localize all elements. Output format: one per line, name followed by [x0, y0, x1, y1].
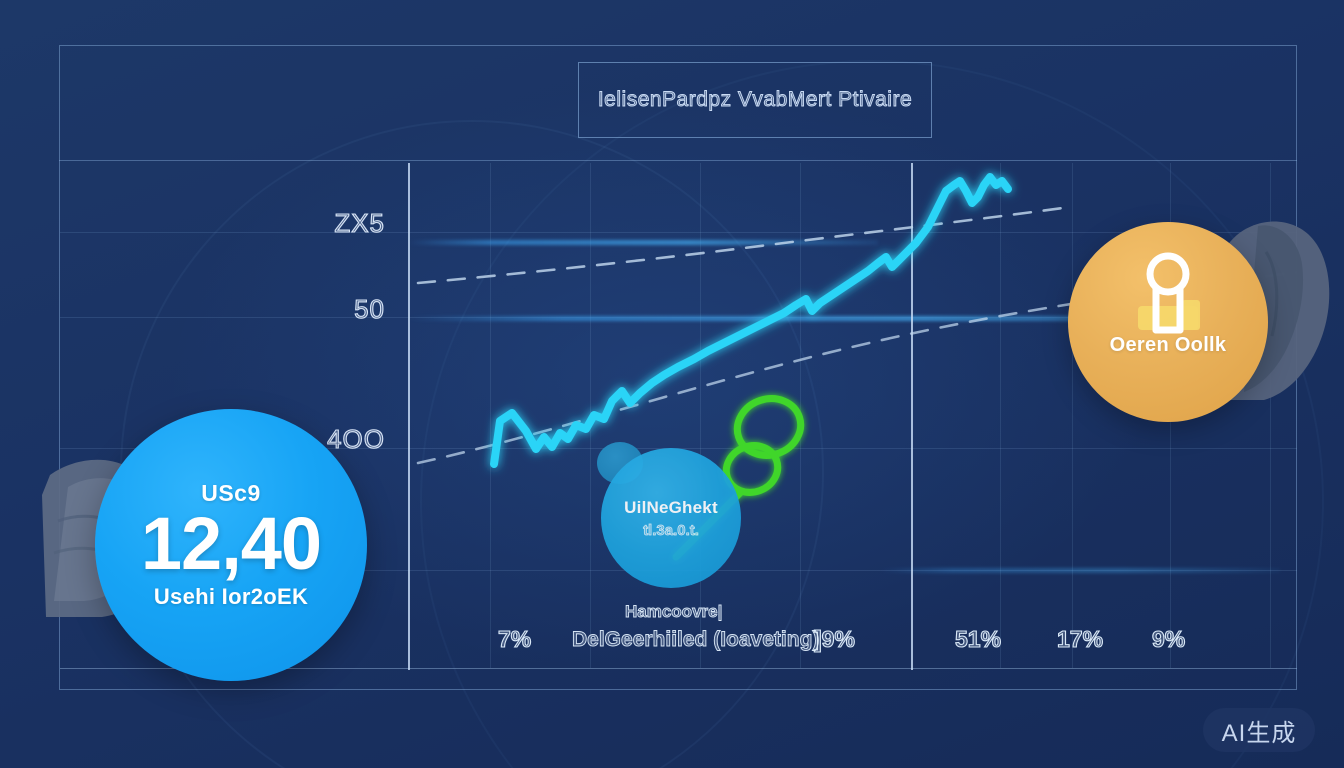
x-axis-title: Hamcoovre|: [625, 602, 722, 622]
ai-generated-watermark: AI生成: [1203, 708, 1315, 752]
mid-metric-bubble[interactable]: UilNeGhekt tl.3a.0.t.: [601, 448, 741, 588]
x-tick-label: 9%: [1152, 626, 1185, 653]
x-tick-label: 51%: [955, 626, 1001, 653]
primary-metric-bubble[interactable]: USc9 12,40 Usehi Ior2oEK: [95, 409, 367, 681]
primary-trend-line: [494, 177, 1008, 464]
gold-metric-bubble[interactable]: Oeren Oollk: [1068, 222, 1268, 422]
x-tick-label: DelGeerhiiled (Ioaveting): [572, 628, 819, 652]
card-header-divider: [59, 160, 1297, 161]
primary-metric-value: 12,40: [141, 509, 321, 579]
x-tick-label: 7%: [498, 626, 531, 653]
lock-icon: [1130, 250, 1206, 346]
y-tick-label: 50: [354, 294, 385, 325]
y-tick-label: 4OO: [327, 424, 385, 455]
mid-metric-label: UilNeGhekt: [624, 498, 718, 518]
watermark-label: AI生成: [1222, 713, 1297, 748]
primary-metric-caption: Usehi Ior2oEK: [154, 584, 308, 610]
y-tick-label: ZX5: [334, 208, 385, 239]
screenshot-root: IelisenPardpz VvabMert Ptivaire ZX5 50 4…: [0, 0, 1344, 768]
x-tick-label: 17%: [1057, 626, 1103, 653]
mid-metric-sublabel: tl.3a.0.t.: [643, 522, 699, 539]
reference-dashed-upper: [418, 207, 1070, 283]
page-title: IelisenPardpz VvabMert Ptivaire: [598, 88, 912, 112]
chart-title-box: IelisenPardpz VvabMert Ptivaire: [578, 62, 932, 138]
x-tick-label: ]9%: [814, 626, 855, 653]
